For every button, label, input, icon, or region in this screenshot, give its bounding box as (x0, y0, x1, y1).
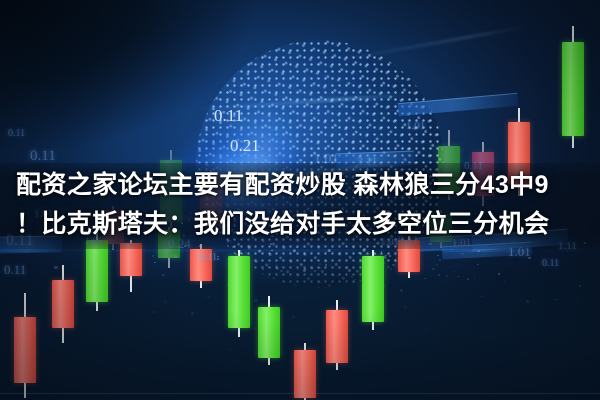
bottom-divider (0, 393, 600, 394)
headline-line-2: ！比克斯塔夫：我们没给对手太多空位三分机会 (16, 205, 584, 244)
headline-text: 配资之家论坛主要有配资炒股 森林狼三分43中9 ！比克斯塔夫：我们没给对手太多空… (0, 166, 600, 244)
headline-line-1: 配资之家论坛主要有配资炒股 森林狼三分43中9 (16, 166, 584, 205)
banner-image: 0.111.010.110.110.110.211.011.013.111.01… (0, 0, 600, 400)
